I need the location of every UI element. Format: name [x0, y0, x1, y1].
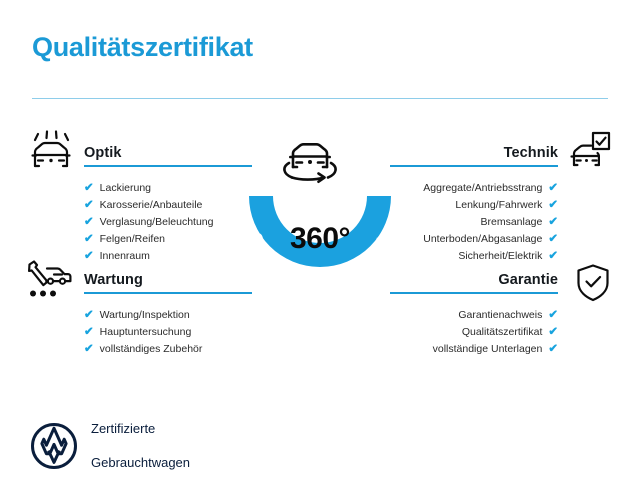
list-item-label: Garantienachweis — [458, 307, 542, 324]
list-item: Lenkung/Fahrwerk✔ — [390, 197, 558, 214]
list-item: Bremsanlage✔ — [390, 214, 558, 231]
check-icon: ✔ — [84, 183, 94, 195]
list-item-label: Wartung/Inspektion — [100, 307, 190, 324]
section-garantie: Garantie Garantienachweis✔ Qualitätszert… — [390, 272, 558, 358]
check-icon: ✔ — [548, 251, 558, 263]
check-icon: ✔ — [84, 310, 94, 322]
car-shine-icon — [28, 130, 74, 177]
section-technik: Technik Aggregate/Antriebsstrang✔ Lenkun… — [390, 145, 558, 265]
list-item-label: Innenraum — [100, 248, 150, 265]
check-icon: ✔ — [84, 200, 94, 212]
check-icon: ✔ — [548, 234, 558, 246]
section-technik-divider — [390, 165, 558, 167]
list-item-label: Unterboden/Abgasanlage — [423, 231, 542, 248]
section-garantie-list: Garantienachweis✔ Qualitätszertifikat✔ v… — [390, 307, 558, 358]
volkswagen-logo — [30, 422, 78, 470]
section-technik-list: Aggregate/Antriebsstrang✔ Lenkung/Fahrwe… — [390, 180, 558, 265]
check-icon: ✔ — [84, 251, 94, 263]
list-item-label: Verglasung/Beleuchtung — [100, 214, 214, 231]
brand-line-2: Gebrauchtwagen — [91, 454, 190, 471]
check-icon: ✔ — [548, 327, 558, 339]
list-item-label: Felgen/Reifen — [100, 231, 165, 248]
check-icon: ✔ — [548, 217, 558, 229]
brand-lockup: Zertifizierte Gebrauchtwagen — [30, 403, 190, 488]
list-item-label: vollständiges Zubehör — [100, 341, 203, 358]
list-item: Qualitätszertifikat✔ — [390, 324, 558, 341]
section-garantie-divider — [390, 292, 558, 294]
list-item-label: Qualitätszertifikat — [462, 324, 543, 341]
shield-check-icon — [574, 263, 612, 308]
list-item: Unterboden/Abgasanlage✔ — [390, 231, 558, 248]
check-icon: ✔ — [548, 183, 558, 195]
check-icon: ✔ — [548, 200, 558, 212]
section-technik-title: Technik — [390, 145, 558, 161]
page-title: Qualitätszertifikat — [32, 32, 253, 63]
section-garantie-title: Garantie — [390, 272, 558, 288]
list-item: Sicherheit/Elektrik✔ — [390, 248, 558, 265]
certificate-page: Qualitätszertifikat — [0, 0, 640, 480]
list-item: vollständige Unterlagen✔ — [390, 341, 558, 358]
wrench-car-icon — [24, 258, 74, 305]
list-item-label: Aggregate/Antriebsstrang — [423, 180, 542, 197]
list-item-label: Hauptuntersuchung — [100, 324, 192, 341]
list-item-label: Lenkung/Fahrwerk — [455, 197, 542, 214]
brand-line-1: Zertifizierte — [91, 420, 190, 437]
check-icon: ✔ — [84, 234, 94, 246]
car-rotation-icon — [284, 144, 335, 181]
list-item-label: Bremsanlage — [480, 214, 542, 231]
badge-360-gebrauchtwagen-check: Gebrauchtwagen-Check 360° — [225, 120, 415, 320]
check-icon: ✔ — [84, 344, 94, 356]
list-item-label: Lackierung — [100, 180, 151, 197]
title-divider — [32, 98, 608, 99]
section-garantie-header: Garantie — [390, 272, 558, 298]
check-icon: ✔ — [84, 217, 94, 229]
check-icon: ✔ — [548, 344, 558, 356]
list-item: ✔Hauptuntersuchung — [84, 324, 252, 341]
car-checkbox-icon — [568, 131, 616, 176]
section-technik-header: Technik — [390, 145, 558, 171]
list-item: Garantienachweis✔ — [390, 307, 558, 324]
check-icon: ✔ — [84, 327, 94, 339]
check-icon: ✔ — [548, 310, 558, 322]
list-item-label: Karosserie/Anbauteile — [100, 197, 203, 214]
brand-text: Zertifizierte Gebrauchtwagen — [91, 403, 190, 488]
list-item: Aggregate/Antriebsstrang✔ — [390, 180, 558, 197]
list-item: ✔vollständiges Zubehör — [84, 341, 252, 358]
list-item-label: vollständige Unterlagen — [433, 341, 543, 358]
list-item-label: Sicherheit/Elektrik — [458, 248, 542, 265]
